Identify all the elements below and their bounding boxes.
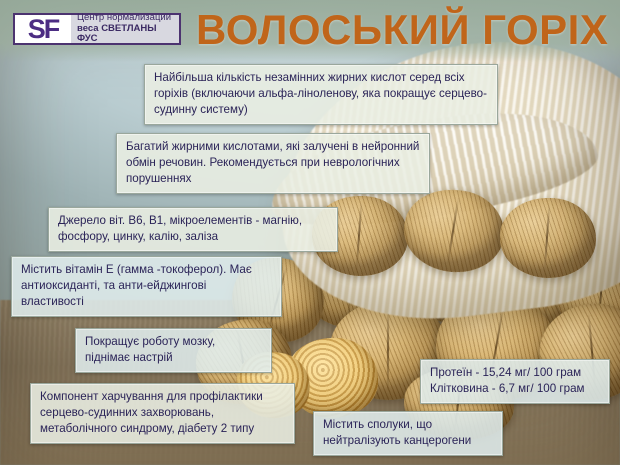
infographic-poster: SF Центр нормализации веса СВЕТЛАНЫ ФУС … <box>0 0 620 465</box>
fact-box-vitamins: Джерело віт. В6, В1, мікроелементів - ма… <box>48 207 338 252</box>
nutrition-protein: Протеїн - 15,24 мг/ 100 грам <box>430 365 600 381</box>
fact-box-vitamin-e: Містить вітамін Е (гамма -токоферол). Ма… <box>11 256 282 317</box>
fact-box-anticancer: Містить сполуки, що нейтралізують канцер… <box>313 411 503 456</box>
fact-box-prophylaxis: Компонент харчування для профілактики се… <box>30 383 295 444</box>
page-title: ВОЛОСЬКИЙ ГОРІХ <box>196 6 608 54</box>
fact-box-brain-mood: Покращує роботу мозку, піднімає настрій <box>75 328 272 373</box>
fact-box-fatty-acids: Найбільша кількість незамінних жирних ки… <box>144 64 498 125</box>
brand-logo[interactable]: SF Центр нормализации веса СВЕТЛАНЫ ФУС <box>13 13 181 45</box>
logo-caption-line2: веса СВЕТЛАНЫ ФУС <box>77 24 179 45</box>
logo-monogram: SF <box>15 15 71 43</box>
fact-box-neuro: Багатий жирними кислотами, які залучені … <box>116 133 430 194</box>
logo-caption: Центр нормализации веса СВЕТЛАНЫ ФУС <box>71 15 179 43</box>
nutrition-facts-panel: Протеїн - 15,24 мг/ 100 грам Клітковина … <box>420 359 610 404</box>
nutrition-fiber: Клітковина - 6,7 мг/ 100 грам <box>430 381 600 397</box>
